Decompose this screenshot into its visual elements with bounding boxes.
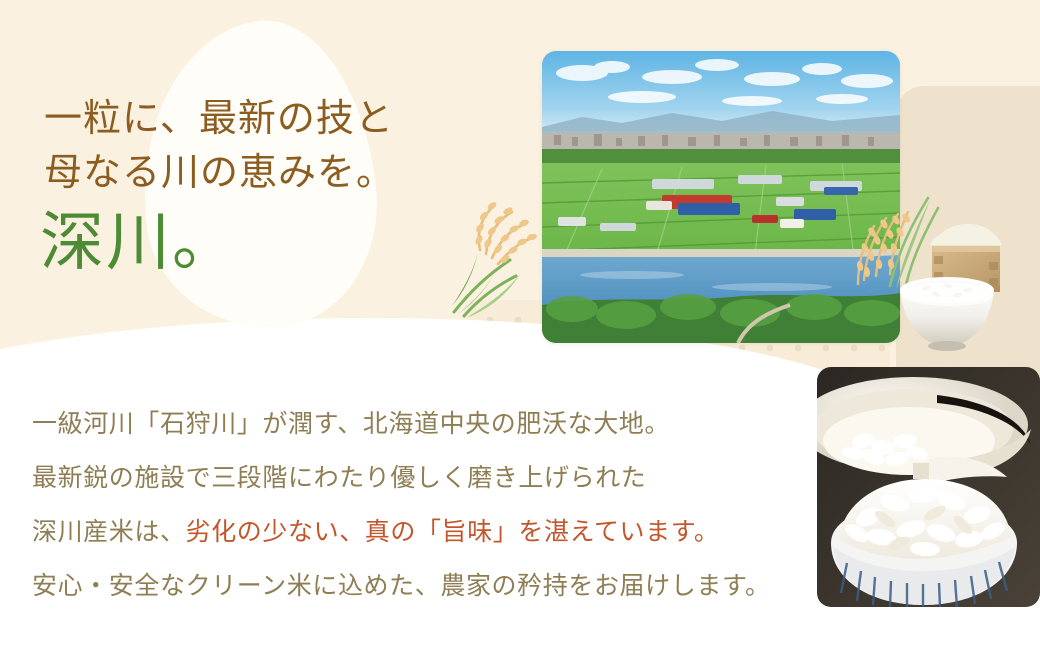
body-line-3-plain: 深川産米は、 <box>32 519 186 546</box>
cooked-rice-photo <box>817 367 1040 607</box>
rice-bowl-masu-image <box>890 200 1040 360</box>
brand-name: 深川。 <box>40 206 238 280</box>
page-title: 一粒に、最新の技と 母なる川の恵みを。 <box>44 92 474 200</box>
body-line-2: 最新鋭の施設で三段階にわたり優しく磨き上げられた <box>32 452 812 506</box>
body-line-4: 安心・安全なクリーン米に込めた、農家の矜持をお届けします。 <box>32 560 812 614</box>
headline-line-1: 一粒に、最新の技と <box>44 92 474 146</box>
body-copy: 一級河川「石狩川」が潤す、北海道中央の肥沃な大地。 最新鋭の施設で三段階にわたり… <box>32 398 812 614</box>
body-line-1: 一級河川「石狩川」が潤す、北海道中央の肥沃な大地。 <box>32 398 812 452</box>
body-line-3: 深川産米は、劣化の少ない、真の「旨味」を湛えています。 <box>32 506 812 560</box>
body-line-3-accent: 劣化の少ない、真の「旨味」を湛えています。 <box>186 519 720 546</box>
promo-banner: 一粒に、最新の技と 母なる川の恵みを。 深川。 <box>0 0 1040 646</box>
rice-ear-icon <box>424 180 548 320</box>
headline-line-2: 母なる川の恵みを。 <box>44 146 474 200</box>
